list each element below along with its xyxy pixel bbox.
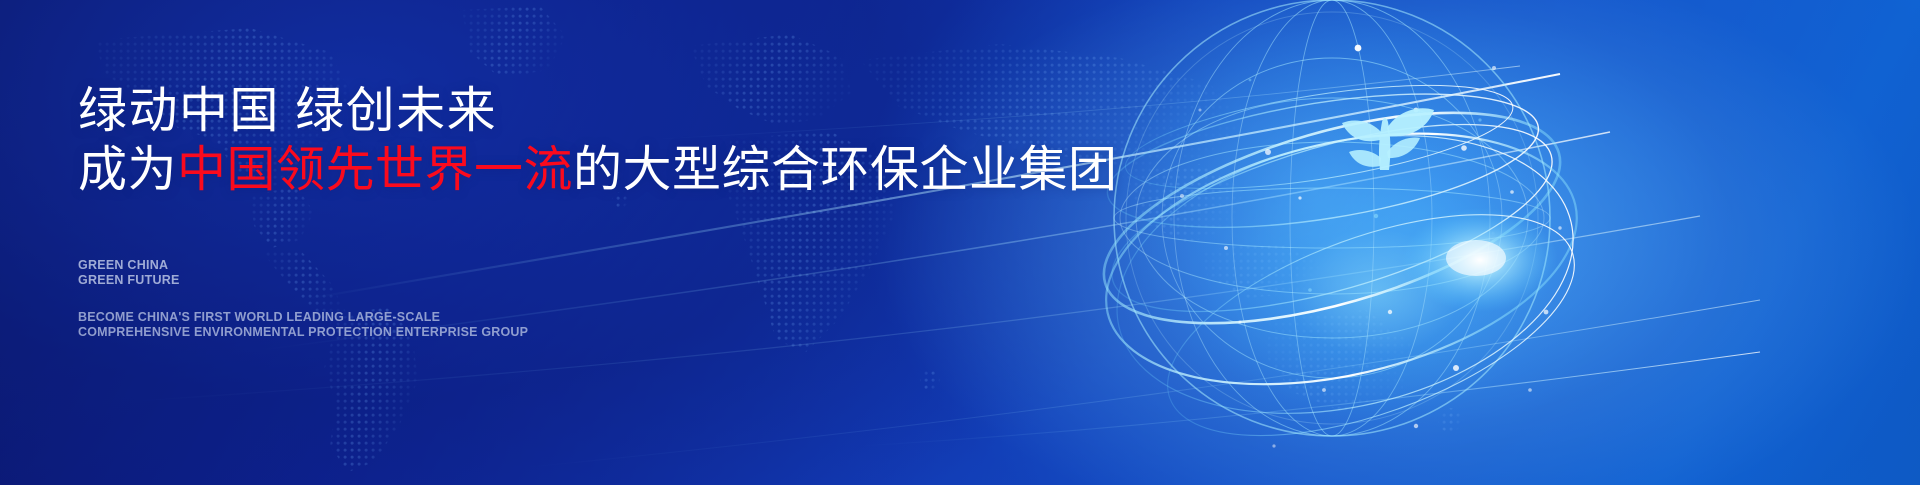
hero-text-block: 绿动中国 绿创未来 成为中国领先世界一流的大型综合环保企业集团 GREEN CH… [78, 0, 1078, 485]
headline-line2-accent: 中国领先世界一流 [177, 143, 573, 197]
english-slogan: GREEN CHINA GREEN FUTURE [78, 258, 180, 288]
wireframe-globe-graphic [1060, 0, 1620, 485]
english-description: BECOME CHINA'S FIRST WORLD LEADING LARGE… [78, 310, 528, 339]
headline-line2-suffix: 的大型综合环保企业集团 [573, 143, 1118, 197]
headline-line-2: 成为中国领先世界一流的大型综合环保企业集团 [78, 141, 1078, 200]
sprout-leaf-icon [1342, 108, 1434, 170]
headline-line2-prefix: 成为 [78, 143, 177, 197]
english-slogan-line-1: GREEN CHINA [78, 258, 180, 273]
english-description-line-1: BECOME CHINA'S FIRST WORLD LEADING LARGE… [78, 310, 528, 325]
headline-group: 绿动中国 绿创未来 成为中国领先世界一流的大型综合环保企业集团 [78, 82, 1078, 200]
english-description-line-2: COMPREHENSIVE ENVIRONMENTAL PROTECTION E… [78, 325, 528, 340]
english-slogan-line-2: GREEN FUTURE [78, 273, 180, 288]
globe-core-glow [1190, 120, 1610, 450]
headline-line-1: 绿动中国 绿创未来 [78, 82, 1078, 141]
hero-banner: 绿动中国 绿创未来 成为中国领先世界一流的大型综合环保企业集团 GREEN CH… [0, 0, 1920, 485]
